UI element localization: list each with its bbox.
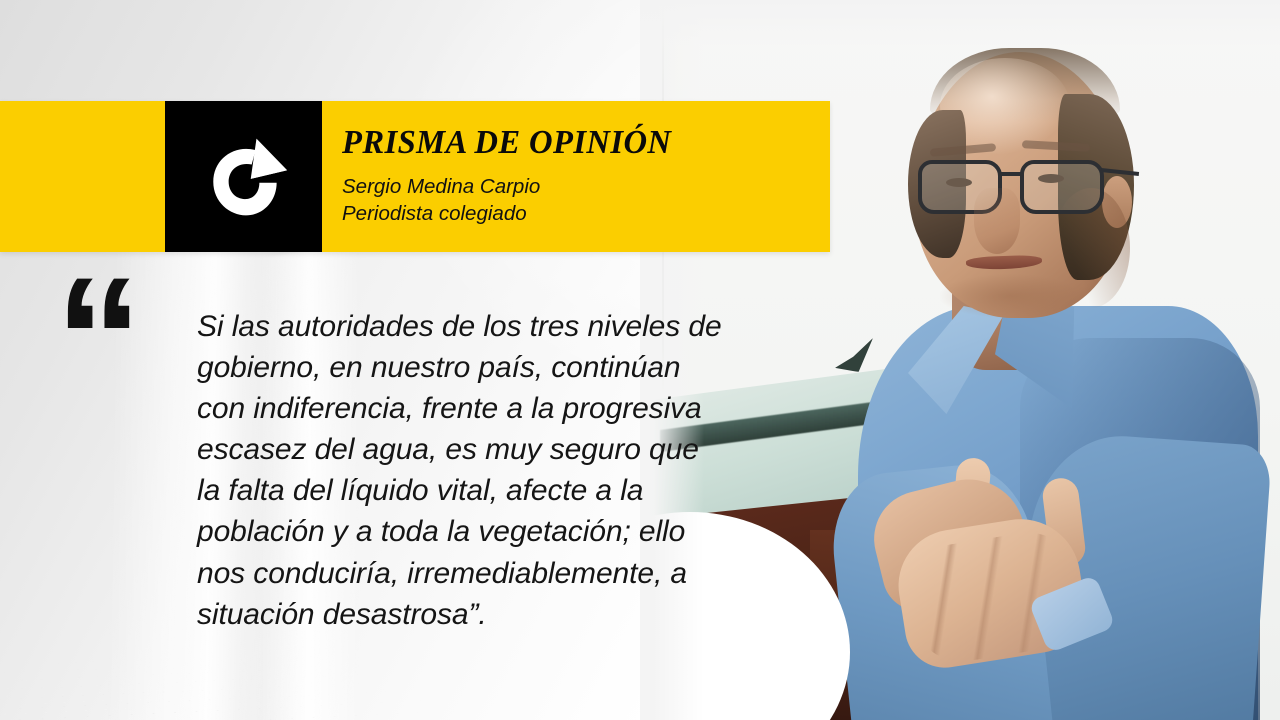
banner-text-block: PRISMA DE OPINIÓN Sergio Medina Carpio P…: [342, 101, 685, 252]
header-banner: PRISMA DE OPINIÓN Sergio Medina Carpio P…: [0, 101, 830, 252]
author-name: Sergio Medina Carpio: [342, 173, 685, 200]
author-role: Periodista colegiado: [342, 200, 685, 227]
quote-paragraph: Si las autoridades de los tres niveles d…: [197, 306, 727, 635]
quote-text: Si las autoridades de los tres niveles d…: [197, 306, 727, 635]
opinion-column-graphic: PRISMA DE OPINIÓN Sergio Medina Carpio P…: [0, 0, 1280, 720]
page-title: PRISMA DE OPINIÓN: [342, 126, 671, 160]
logo-container: [165, 101, 322, 252]
photo-top-fade: [640, 0, 1280, 46]
quote-mark-icon: “: [55, 252, 137, 427]
prisma-circular-arrow-logo-icon: [196, 129, 292, 225]
